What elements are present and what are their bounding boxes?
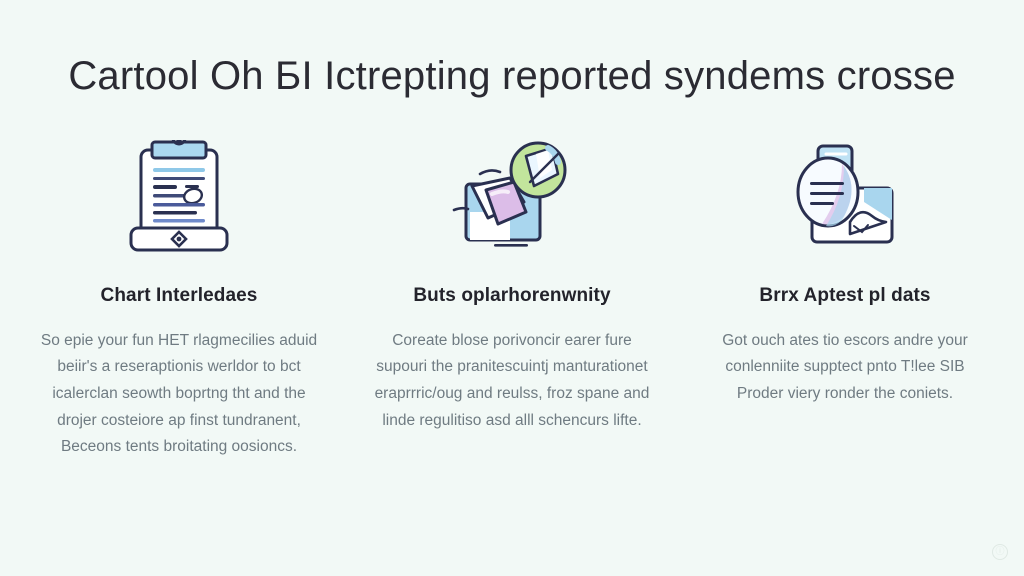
page-title: Cartool Oh БI Ictrepting reported syndem… [0,52,1024,100]
slide-root: Cartool Oh БI Ictrepting reported syndem… [0,0,1024,576]
feature-columns: Chart Interledaes So epie your fun HET r… [0,136,1024,461]
feature-body-2: Coreate blose porivoncir earer fure supo… [367,328,657,435]
document-image-folder-icon [775,136,915,256]
feature-title-3: Brrx Aptest pl dats [759,284,930,308]
feature-column-3: Brrx Aptest pl dats Got ouch ates tio es… [690,136,1000,408]
feature-body-1: So epie your fun HET rlagmecilies aduid … [34,328,324,461]
feature-title-2: Buts oplarhorenwnity [413,284,610,308]
feature-title-1: Chart Interledaes [101,284,258,308]
abstract-shapes-magnifier-icon [442,136,582,256]
clipboard-document-icon [109,136,249,256]
feature-column-1: Chart Interledaes So epie your fun HET r… [24,136,334,461]
feature-body-3: Got ouch ates tio escors andre your conl… [700,328,990,408]
feature-column-2: Buts oplarhorenwnity Coreate blose poriv… [357,136,667,434]
watermark-badge: ⓘ [992,544,1008,560]
